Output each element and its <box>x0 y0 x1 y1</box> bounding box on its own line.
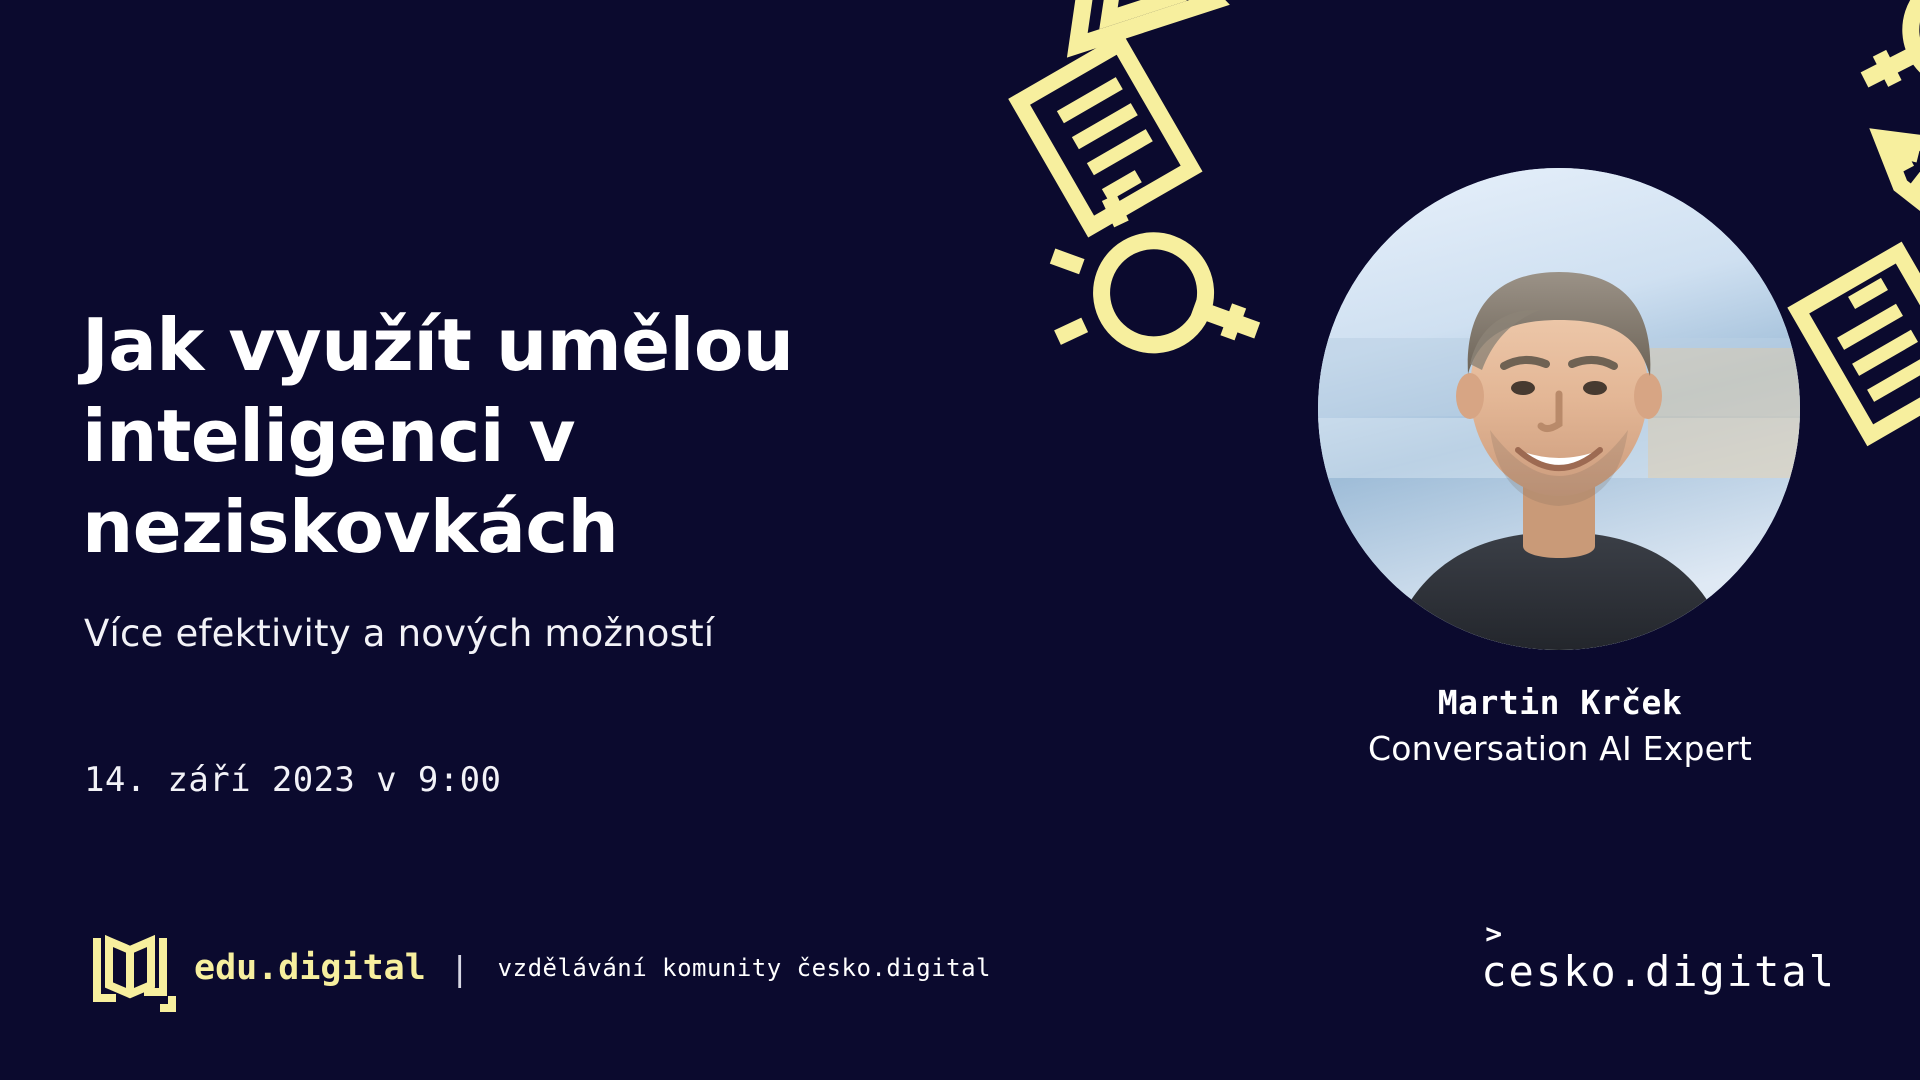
speaker-portrait-photo <box>1318 168 1800 650</box>
headline-line-2: inteligenci v <box>82 391 902 482</box>
speaker-credit: Martin Krček Conversation AI Expert <box>1240 682 1880 771</box>
footer-separator: | <box>450 949 470 988</box>
edu-digital-wordmark: edu.digital <box>194 948 426 988</box>
headline-line-3: neziskovkách <box>82 482 902 573</box>
cesko-digital-branding: > cesko.digital <box>1481 920 1836 994</box>
cesko-digital-wordmark: cesko.digital <box>1481 950 1836 994</box>
page-title: Jak využít umělou inteligenci v neziskov… <box>82 300 902 573</box>
webinar-promo-poster: Jak využít umělou inteligenci v neziskov… <box>0 0 1920 1080</box>
chevron-right-icon: > <box>1485 920 1836 948</box>
speaker-name: Martin Krček <box>1240 682 1880 723</box>
headline-line-1: Jak využít umělou <box>82 300 902 391</box>
open-book-icon <box>84 922 176 1014</box>
edu-digital-branding: edu.digital | vzdělávání komunity česko.… <box>84 922 991 1014</box>
edu-digital-tagline: vzdělávání komunity česko.digital <box>498 954 991 982</box>
speaker-role: Conversation AI Expert <box>1240 727 1880 771</box>
event-datetime: 14. září 2023 v 9:00 <box>84 760 501 800</box>
page-subtitle: Více efektivity a nových možností <box>84 612 714 655</box>
